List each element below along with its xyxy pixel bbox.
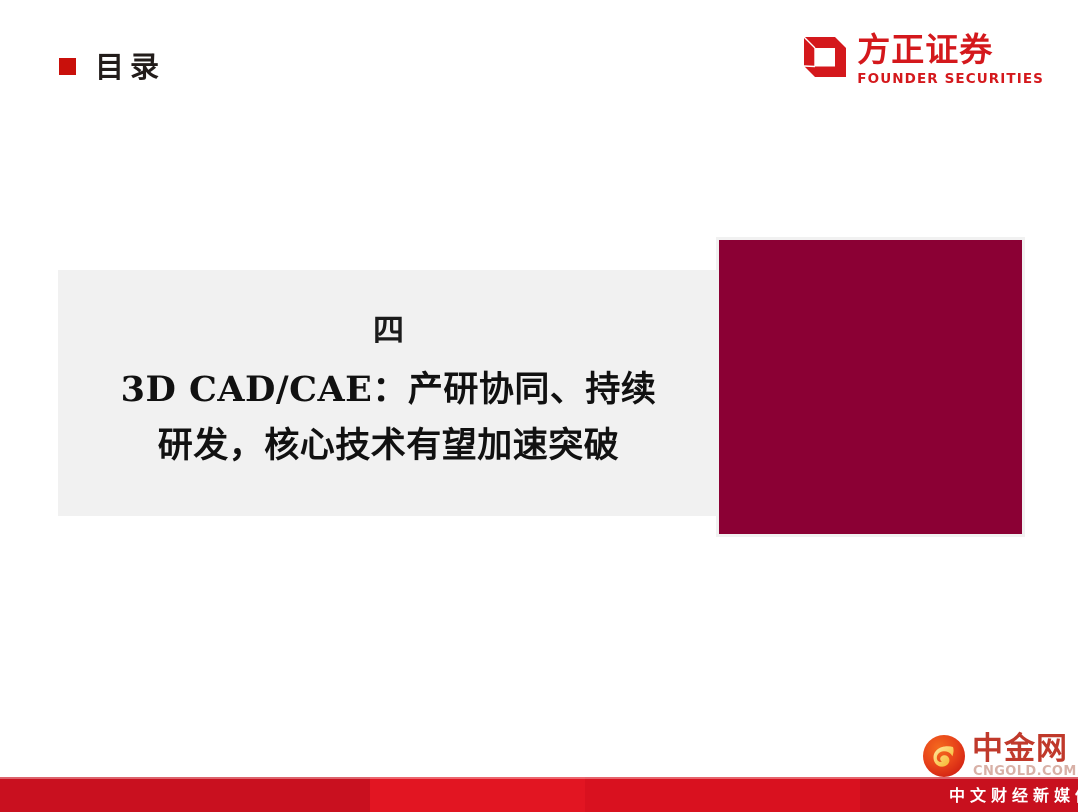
section-bullet-icon — [59, 58, 76, 75]
chapter-heading-line-1: 3D CAD/CAE：产研协同、持续 — [121, 362, 657, 417]
brand-logo: 方正证券 FOUNDER SECURITIES — [802, 33, 1044, 95]
chapter-title-stack: 四 3D CAD/CAE：产研协同、持续 研发，核心技术有望加速突破 — [58, 270, 719, 516]
site-watermark: 中金网 CNGOLD.COM.CN 中文财经新媒体 — [902, 728, 1070, 812]
chapter-heading-line-2: 研发，核心技术有望加速突破 — [158, 418, 620, 473]
page-title: 目录 — [95, 44, 165, 86]
footer-banner-band — [0, 777, 370, 812]
slide-header: 目录 方正证券 FOUNDER SECURITIES — [0, 0, 1078, 120]
watermark-tagline: 中文财经新媒体 — [949, 782, 1078, 806]
accent-color-block — [719, 240, 1022, 534]
chapter-number: 四 — [373, 313, 404, 350]
footer-banner-band — [585, 777, 860, 812]
footer-banner-band — [370, 777, 585, 812]
watermark-name: 中金网 — [972, 730, 1068, 769]
watermark-url: CNGOLD.COM.CN — [973, 764, 1078, 779]
cngold-swirl-icon — [922, 734, 966, 778]
brand-text: 方正证券 FOUNDER SECURITIES — [857, 33, 1044, 87]
brand-name-en: FOUNDER SECURITIES — [857, 71, 1044, 87]
founder-logo-mark-icon — [802, 35, 848, 79]
brand-name-cn: 方正证券 — [857, 33, 993, 68]
